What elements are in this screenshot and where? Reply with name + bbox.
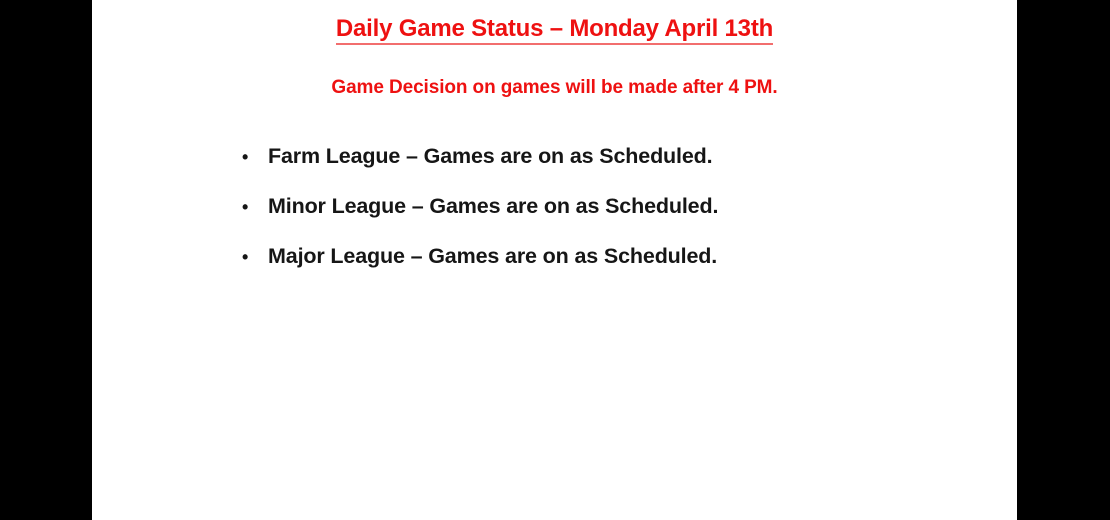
slide-screen: Daily Game Status – Monday April 13th Ga… xyxy=(0,0,1110,520)
list-item: • Minor League – Games are on as Schedul… xyxy=(242,194,1002,244)
slide-canvas: Daily Game Status – Monday April 13th Ga… xyxy=(92,0,1017,520)
bullet-label-farm-league: Farm League – Games are on as Scheduled. xyxy=(268,144,712,169)
letterbox-bar-left xyxy=(0,0,92,520)
slide-title: Daily Game Status – Monday April 13th xyxy=(92,16,1017,42)
bullet-dot-icon: • xyxy=(242,198,268,216)
bullet-dot-icon: • xyxy=(242,248,268,266)
bullet-label-minor-league: Minor League – Games are on as Scheduled… xyxy=(268,194,718,219)
list-item: • Farm League – Games are on as Schedule… xyxy=(242,144,1002,194)
letterbox-bar-right xyxy=(1017,0,1110,520)
bullet-label-major-league: Major League – Games are on as Scheduled… xyxy=(268,244,717,269)
slide-title-text: Daily Game Status – Monday April 13th xyxy=(336,15,773,45)
slide-subtitle: Game Decision on games will be made afte… xyxy=(92,78,1017,99)
bullet-list: • Farm League – Games are on as Schedule… xyxy=(242,144,1002,294)
bullet-dot-icon: • xyxy=(242,148,268,166)
list-item: • Major League – Games are on as Schedul… xyxy=(242,244,1002,294)
